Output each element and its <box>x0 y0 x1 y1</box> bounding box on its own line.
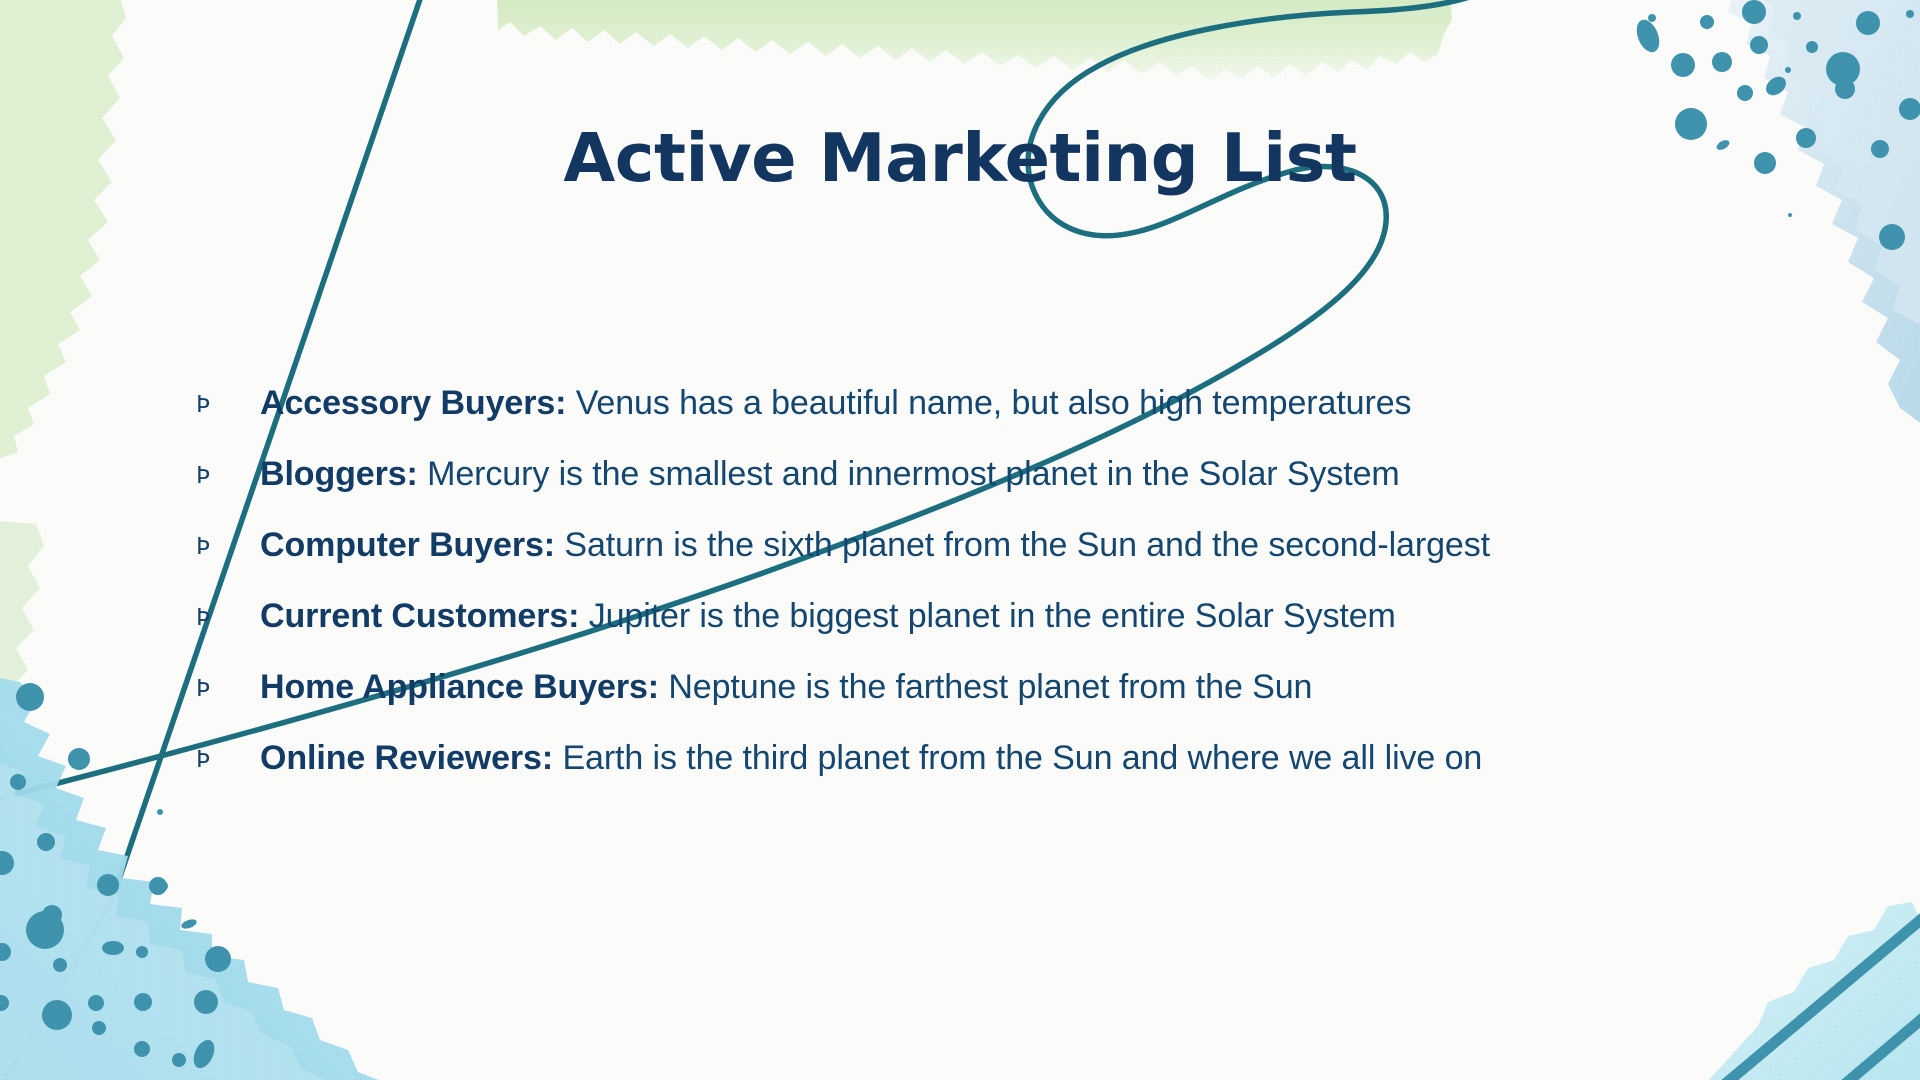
list-item-text: Computer Buyers: Saturn is the sixth pla… <box>260 526 1756 565</box>
list-item[interactable]: Þ Bloggers: Mercury is the smallest and … <box>196 455 1756 526</box>
list-item-label: Online Reviewers: <box>260 739 553 777</box>
list-item-label: Home Appliance Buyers: <box>260 668 659 706</box>
list-item-description: Mercury is the smallest and innermost pl… <box>427 455 1399 493</box>
thorn-bullet-icon: Þ <box>196 678 260 701</box>
list-item-label: Current Customers: <box>260 597 579 635</box>
list-item-label: Computer Buyers: <box>260 526 555 564</box>
thorn-bullet-icon: Þ <box>196 607 260 630</box>
bullet-list: Þ Accessory Buyers: Venus has a beautifu… <box>196 384 1756 810</box>
list-item-text: Current Customers: Jupiter is the bigges… <box>260 597 1756 636</box>
list-item-text: Online Reviewers: Earth is the third pla… <box>260 739 1756 778</box>
list-item-label: Accessory Buyers: <box>260 384 566 422</box>
list-item-text: Accessory Buyers: Venus has a beautiful … <box>260 384 1756 423</box>
list-item-text: Bloggers: Mercury is the smallest and in… <box>260 455 1756 494</box>
list-item-description: Earth is the third planet from the Sun a… <box>562 739 1482 777</box>
list-item-label: Bloggers: <box>260 455 418 493</box>
thorn-bullet-icon: Þ <box>196 536 260 559</box>
list-item[interactable]: Þ Computer Buyers: Saturn is the sixth p… <box>196 526 1756 597</box>
page-title: Active Marketing List <box>0 123 1920 193</box>
list-item[interactable]: Þ Home Appliance Buyers: Neptune is the … <box>196 668 1756 739</box>
list-item-description: Venus has a beautiful name, but also hig… <box>576 384 1412 422</box>
list-item-description: Jupiter is the biggest planet in the ent… <box>589 597 1396 635</box>
list-item[interactable]: Þ Current Customers: Jupiter is the bigg… <box>196 597 1756 668</box>
thorn-bullet-icon: Þ <box>196 749 260 772</box>
thorn-bullet-icon: Þ <box>196 465 260 488</box>
list-item-text: Home Appliance Buyers: Neptune is the fa… <box>260 668 1756 707</box>
list-item[interactable]: Þ Online Reviewers: Earth is the third p… <box>196 739 1756 810</box>
list-item-description: Saturn is the sixth planet from the Sun … <box>564 526 1490 564</box>
slide-canvas: Active Marketing List Þ Accessory Buyers… <box>0 0 1920 1080</box>
thorn-bullet-icon: Þ <box>196 394 260 417</box>
list-item[interactable]: Þ Accessory Buyers: Venus has a beautifu… <box>196 384 1756 455</box>
list-item-description: Neptune is the farthest planet from the … <box>668 668 1312 706</box>
